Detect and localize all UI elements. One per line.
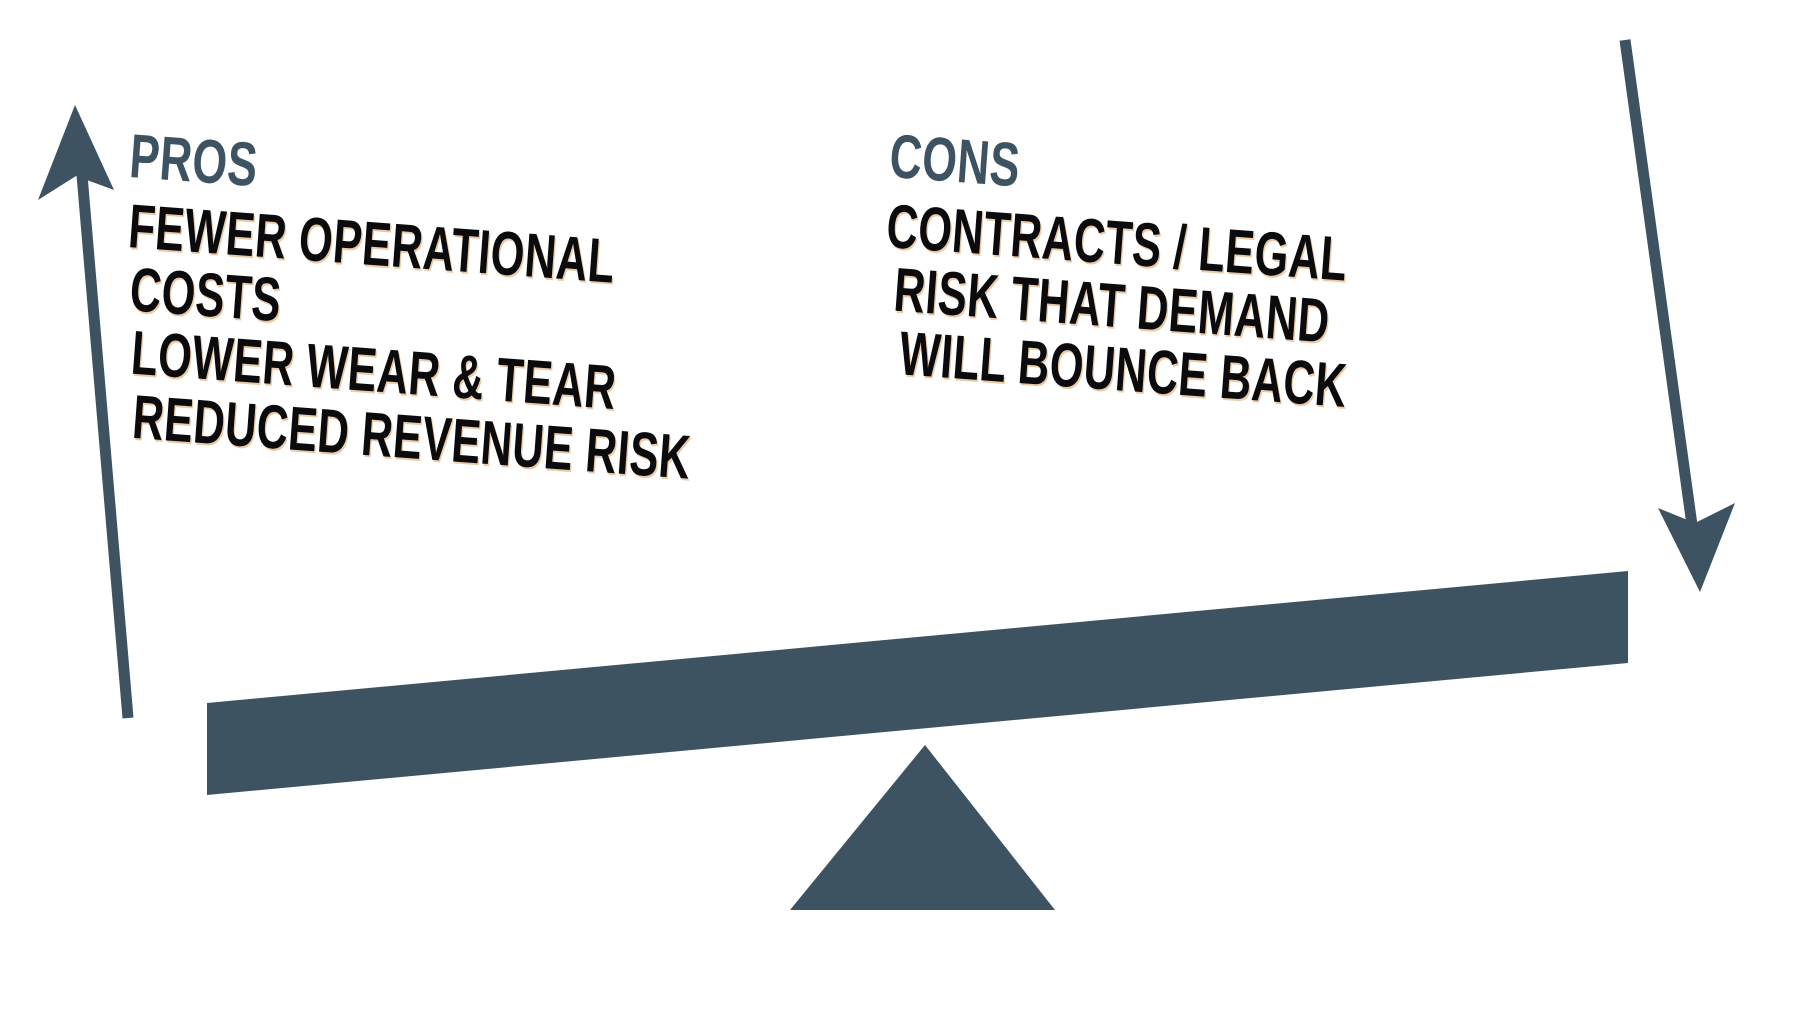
fulcrum-triangle: [790, 745, 1055, 910]
seesaw-pros-cons-diagram: PROS FEWER OPERATIONAL COSTS LOWER WEAR …: [0, 0, 1800, 1020]
right-down-arrow-icon: [1625, 40, 1735, 592]
pros-column: PROS FEWER OPERATIONAL COSTS LOWER WEAR …: [109, 128, 951, 507]
cons-column: CONS CONTRACTS / LEGAL RISK THAT DEMAND …: [873, 128, 1555, 433]
